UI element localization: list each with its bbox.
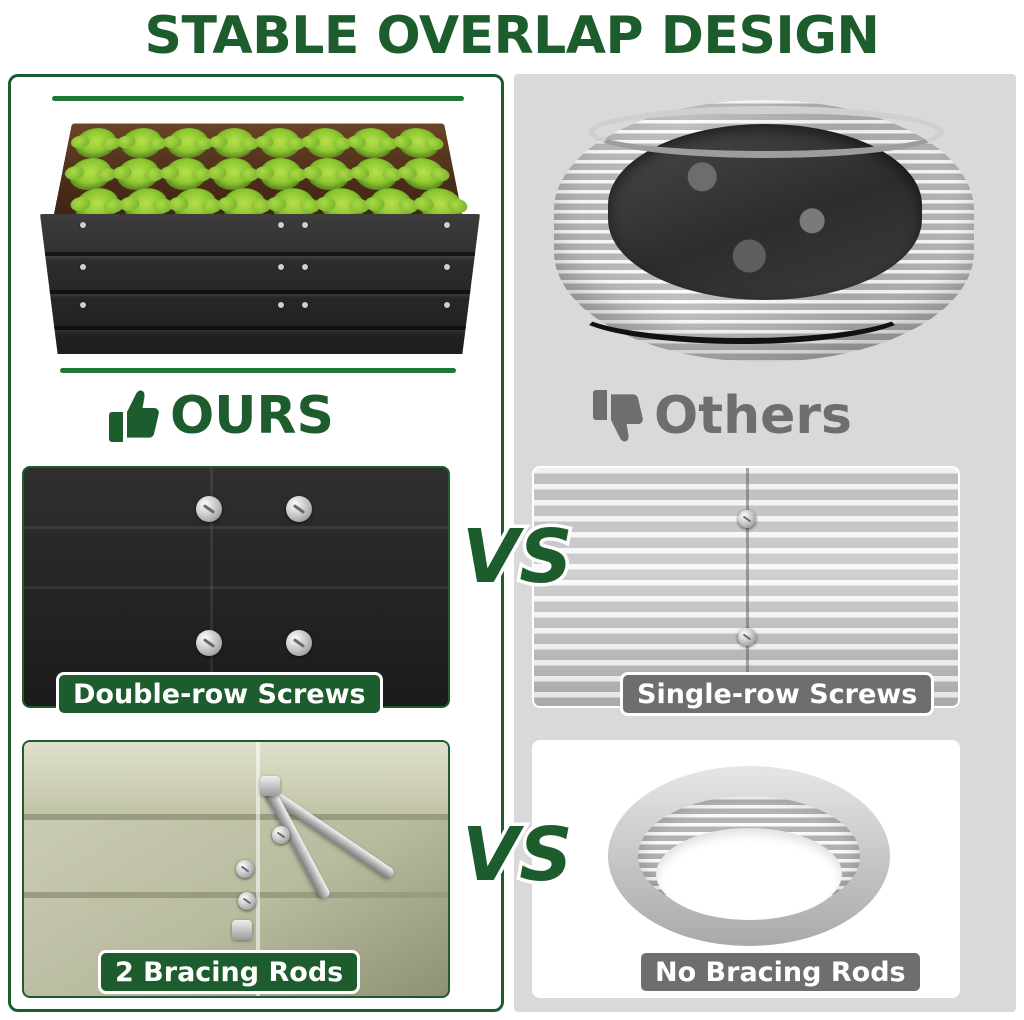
lettuce-plant [73,128,119,158]
screw [286,496,312,522]
panel-seam [40,290,480,294]
screw [302,302,308,308]
screw [444,264,450,270]
panel-seam [24,526,448,529]
screw [738,510,756,528]
screw [196,496,222,522]
lettuce-plant [396,128,442,158]
verdict-ours: OURS [108,388,334,444]
lettuce-plant [66,158,113,190]
vs-label: VS [462,812,573,898]
screw [80,302,86,308]
panel-seam [24,586,448,589]
rod-bracket [232,920,252,940]
bed-rim [588,106,944,158]
lettuce-plant [354,158,400,190]
panel-seam [24,814,448,820]
caption-ours-row1: Double-row Screws [56,672,383,716]
screw [196,630,222,656]
soil-surface [52,123,464,224]
panel-seam [40,252,480,256]
verdict-ours-label: OURS [170,390,334,442]
lettuce-plant [305,128,348,158]
screw [302,222,308,228]
lettuce-plant [307,158,351,190]
lettuce-plant [260,128,301,158]
screw [302,264,308,270]
screw [738,628,756,646]
ring-opening [656,828,842,920]
vs-badge-row2: VS [462,818,573,892]
screw [278,264,284,270]
rod-bracket [260,776,280,796]
verdict-others: Others [592,388,852,444]
caption-others-row1: Single-row Screws [620,672,934,716]
screw [286,630,312,656]
bulge-indicator-arc [570,274,914,344]
screw [278,302,284,308]
screw [444,222,450,228]
screw [238,892,256,910]
thumbs-down-icon [592,388,644,444]
screw [444,302,450,308]
lettuce-plant [213,128,254,158]
panel-seam [24,892,448,898]
planter-body [40,214,480,354]
screw [236,860,254,878]
highlight-line-top [52,96,464,101]
lettuce-plant [119,128,163,158]
highlight-line-bottom [60,368,456,373]
lettuce-plant [163,158,207,190]
screw [272,826,290,844]
hero-image-others [530,86,1000,376]
screw [278,222,284,228]
thumbs-up-icon [108,388,160,444]
hero-image-ours [22,86,492,376]
lettuce-plant [351,128,395,158]
lettuce-plant [260,158,303,190]
lettuce-plant [115,158,161,190]
lettuce-plant [166,128,209,158]
screw [80,264,86,270]
page-title: STABLE OVERLAP DESIGN [0,6,1024,66]
vs-label: VS [462,514,573,600]
vs-badge-row1: VS [462,520,573,594]
panel-seam [40,326,480,330]
verdict-others-label: Others [654,390,852,442]
screw [80,222,86,228]
lettuce-plant [400,158,447,190]
panel-seam [746,468,749,706]
caption-ours-row2: 2 Bracing Rods [98,950,360,994]
poster-root: STABLE OVERLAP DESIGN [0,0,1024,1020]
caption-others-row2: No Bracing Rods [638,950,923,994]
bed-wall [24,742,448,814]
lettuce-plant [212,158,255,190]
